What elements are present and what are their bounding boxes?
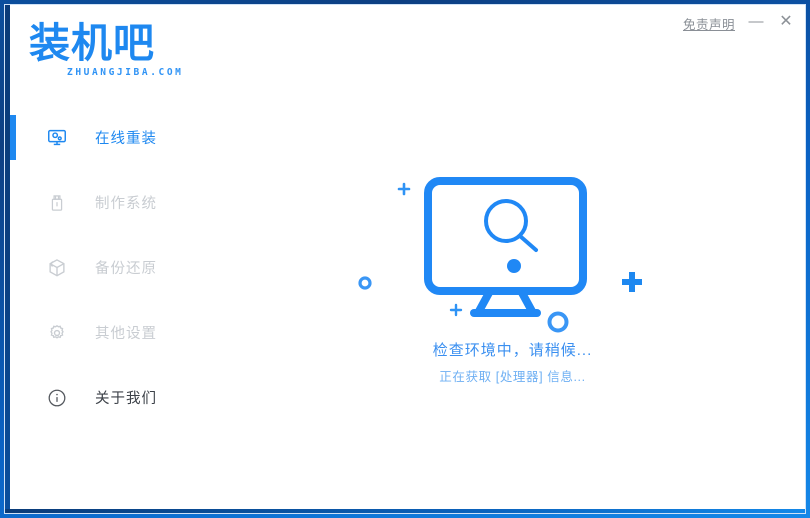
app-window: 免责声明 — ✕ 装机吧 ZHUANGJIBA.COM: [0, 0, 810, 518]
sidebar-item-backup-restore[interactable]: 备份还原: [5, 235, 220, 300]
app-logo: 装机吧 ZHUANGJIBA.COM: [29, 21, 199, 83]
decoration-ring-small: [360, 278, 370, 288]
status-sub-text: 正在获取 [处理器] 信息...: [220, 366, 805, 385]
usb-drive-icon: [45, 191, 69, 215]
monitor-magnifier-icon: [350, 165, 680, 335]
logo-domain-text: ZHUANGJIBA.COM: [67, 67, 183, 78]
window-bottom-accent: [5, 509, 805, 513]
active-indicator-bar: [10, 115, 16, 160]
magnifier-shape: [486, 201, 536, 250]
status-main-text: 检查环境中，请稍候...: [220, 339, 805, 360]
screen-dot: [507, 259, 521, 273]
sidebar-item-make-system[interactable]: 制作系统: [5, 170, 220, 235]
logo-text: 装机吧: [29, 21, 199, 65]
monitor-circles-icon: [45, 126, 69, 150]
sidebar-item-label: 其他设置: [95, 322, 157, 343]
info-circle-icon: [45, 386, 69, 410]
sidebar-item-label: 制作系统: [95, 192, 157, 213]
main-content: 检查环境中，请稍候... 正在获取 [处理器] 信息...: [220, 5, 805, 513]
sidebar-item-label: 备份还原: [95, 257, 157, 278]
gear-icon: [45, 321, 69, 345]
sidebar: 在线重装 制作系统: [5, 105, 220, 430]
sidebar-item-online-reinstall[interactable]: 在线重装: [5, 105, 220, 170]
window-inner: 免责声明 — ✕ 装机吧 ZHUANGJIBA.COM: [4, 4, 806, 514]
decoration-ring-medium: [550, 314, 567, 331]
sidebar-item-about-us[interactable]: 关于我们: [5, 365, 220, 430]
sidebar-item-label: 在线重装: [95, 127, 157, 148]
sidebar-item-label: 关于我们: [95, 387, 157, 408]
decoration-plus-tiny: [451, 305, 461, 315]
cube-box-icon: [45, 256, 69, 280]
decoration-plus-small: [399, 184, 409, 194]
decoration-plus-large: [622, 272, 642, 292]
sidebar-item-other-settings[interactable]: 其他设置: [5, 300, 220, 365]
